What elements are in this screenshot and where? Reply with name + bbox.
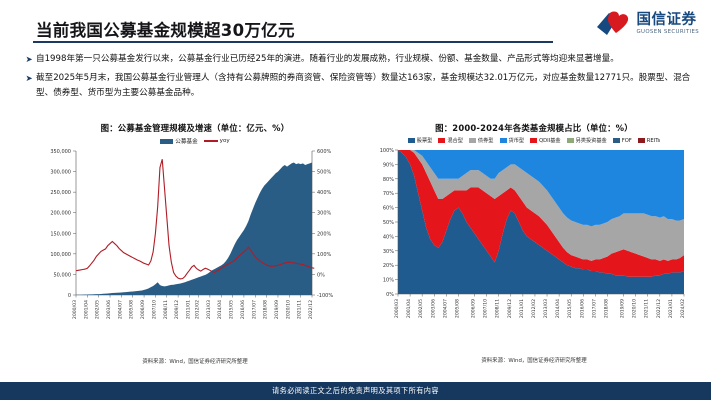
svg-text:350,000: 350,000 xyxy=(50,149,71,155)
chart-plot-area: 050,000100,000150,000200,000250,000300,0… xyxy=(30,145,360,351)
svg-text:2001/04: 2001/04 xyxy=(83,300,89,319)
chart-source-note: 资料来源：Wind，国信证券经济研究所整理 xyxy=(374,356,694,364)
svg-text:500%: 500% xyxy=(317,170,332,176)
svg-text:2008/11: 2008/11 xyxy=(495,299,501,318)
svg-text:2013/03: 2013/03 xyxy=(206,300,212,319)
chart-title: 图：2000-2024年各类基金规模占比（单位：%） xyxy=(374,122,694,134)
svg-text:2015/05: 2015/05 xyxy=(229,300,235,319)
legend-label: 货币型 xyxy=(509,137,525,144)
slide: 当前我国公募基金规模超30万亿元 国信证券 GUOSEN SECURITIES … xyxy=(0,0,711,400)
svg-text:0%: 0% xyxy=(317,272,325,278)
svg-text:2021/11: 2021/11 xyxy=(297,300,303,319)
svg-text:2014/04: 2014/04 xyxy=(555,299,561,318)
svg-text:2020/10: 2020/10 xyxy=(285,300,291,319)
svg-text:2008/11: 2008/11 xyxy=(163,300,169,319)
svg-text:2003/06: 2003/06 xyxy=(430,299,436,318)
page-title: 当前我国公募基金规模超30万亿元 xyxy=(36,17,295,41)
svg-text:2013/03: 2013/03 xyxy=(543,299,549,318)
svg-text:50,000: 50,000 xyxy=(54,272,72,278)
legend-swatch-icon xyxy=(613,138,620,143)
legend-item: yoy xyxy=(204,138,230,144)
svg-text:2019/09: 2019/09 xyxy=(620,299,626,318)
legend-item: 股票型 xyxy=(408,137,433,144)
legend-swatch-icon xyxy=(638,138,645,143)
svg-text:-100%: -100% xyxy=(317,293,333,299)
svg-text:100%: 100% xyxy=(380,148,395,154)
svg-text:2005/08: 2005/08 xyxy=(129,300,135,319)
svg-text:2004/07: 2004/07 xyxy=(442,299,448,318)
svg-text:90%: 90% xyxy=(383,162,394,168)
svg-text:2015/05: 2015/05 xyxy=(567,299,573,318)
svg-text:2011/01: 2011/01 xyxy=(519,299,525,318)
svg-text:2020/10: 2020/10 xyxy=(632,299,638,318)
legend-swatch-icon xyxy=(408,138,415,143)
svg-text:300%: 300% xyxy=(317,211,332,217)
footer-disclaimer: 请务必阅读正文之后的免责声明及其项下所有内容 xyxy=(0,382,711,400)
svg-text:2012/02: 2012/02 xyxy=(195,300,201,319)
legend-swatch-icon xyxy=(438,138,445,143)
svg-text:80%: 80% xyxy=(383,177,394,183)
legend-label: QDII基金 xyxy=(539,137,561,144)
legend-label: 另类投资基金 xyxy=(576,137,607,144)
bullet-arrow-icon: ➤ xyxy=(22,71,36,86)
chart-source-note: 资料来源：Wind，国信证券经济研究所整理 xyxy=(30,357,360,365)
legend-item: 另类投资基金 xyxy=(567,137,607,144)
svg-text:100,000: 100,000 xyxy=(50,252,71,258)
svg-text:2009/12: 2009/12 xyxy=(507,299,513,318)
svg-text:2004/07: 2004/07 xyxy=(117,300,123,319)
legend-swatch-icon xyxy=(469,138,476,143)
legend-item: 混合型 xyxy=(438,137,463,144)
svg-text:2016/06: 2016/06 xyxy=(240,300,246,319)
legend-line-icon xyxy=(204,140,218,142)
svg-text:2003/06: 2003/06 xyxy=(106,300,112,319)
svg-text:2018/08: 2018/08 xyxy=(604,299,610,318)
bullet-text: 自1998年第一只公募基金发行以来，公募基金行业已历经25年的演进。随着行业的发… xyxy=(36,52,619,68)
svg-text:2021/11: 2021/11 xyxy=(644,299,650,318)
legend-label: yoy xyxy=(220,138,230,144)
svg-text:2017/07: 2017/07 xyxy=(591,299,597,318)
svg-text:2006/09: 2006/09 xyxy=(140,300,146,319)
legend-item: FOF xyxy=(613,138,632,144)
svg-text:40%: 40% xyxy=(383,234,394,240)
svg-text:2000/03: 2000/03 xyxy=(72,300,78,319)
svg-text:600%: 600% xyxy=(317,149,332,155)
legend-label: FOF xyxy=(622,138,632,144)
brand-text: 国信证券 GUOSEN SECURITIES xyxy=(637,13,699,36)
legend-swatch-icon xyxy=(500,138,507,143)
legend-label: 股票型 xyxy=(417,137,433,144)
svg-text:20%: 20% xyxy=(383,263,394,269)
bullet-text: 截至2025年5月末，我国公募基金行业管理人（含持有公募牌照的券商资管、保险资管… xyxy=(36,71,694,102)
legend-label: 公募基金 xyxy=(175,137,197,145)
svg-text:50%: 50% xyxy=(383,220,394,226)
guosen-logo-icon xyxy=(595,11,631,37)
legend-swatch-icon xyxy=(567,138,574,143)
svg-text:2002/05: 2002/05 xyxy=(418,299,424,318)
legend-item: 公募基金 xyxy=(160,137,197,145)
svg-text:2005/08: 2005/08 xyxy=(454,299,460,318)
legend-label: 混合型 xyxy=(447,137,463,144)
legend-label: 债券型 xyxy=(478,137,494,144)
svg-text:2007/10: 2007/10 xyxy=(483,299,489,318)
svg-text:200,000: 200,000 xyxy=(50,211,71,217)
list-item: ➤ 自1998年第一只公募基金发行以来，公募基金行业已历经25年的演进。随着行业… xyxy=(22,52,694,68)
svg-text:2022/12: 2022/12 xyxy=(308,300,314,319)
bullet-list: ➤ 自1998年第一只公募基金发行以来，公募基金行业已历经25年的演进。随着行业… xyxy=(22,52,694,105)
svg-text:2018/08: 2018/08 xyxy=(263,300,269,319)
svg-text:2023/01: 2023/01 xyxy=(668,299,674,318)
svg-text:2017/07: 2017/07 xyxy=(251,300,257,319)
svg-text:10%: 10% xyxy=(383,278,394,284)
chart-plot-area: 0%10%20%30%40%50%60%70%80%90%100%2000/03… xyxy=(374,144,694,350)
svg-text:2001/04: 2001/04 xyxy=(406,299,412,318)
svg-text:60%: 60% xyxy=(383,206,394,212)
brand-logo: 国信证券 GUOSEN SECURITIES xyxy=(595,11,699,37)
legend-swatch-icon xyxy=(530,138,537,143)
chart-legend: 公募基金 yoy xyxy=(30,137,360,145)
svg-text:0%: 0% xyxy=(386,292,394,298)
svg-text:70%: 70% xyxy=(383,191,394,197)
svg-text:300,000: 300,000 xyxy=(50,170,71,176)
svg-text:2022/12: 2022/12 xyxy=(656,299,662,318)
svg-text:100%: 100% xyxy=(317,252,332,258)
svg-text:30%: 30% xyxy=(383,249,394,255)
svg-text:2007/10: 2007/10 xyxy=(151,300,157,319)
legend-item: REITs xyxy=(638,138,660,144)
svg-text:2014/04: 2014/04 xyxy=(217,300,223,319)
list-item: ➤ 截至2025年5月末，我国公募基金行业管理人（含持有公募牌照的券商资管、保险… xyxy=(22,71,694,102)
svg-text:400%: 400% xyxy=(317,190,332,196)
svg-text:2012/02: 2012/02 xyxy=(531,299,537,318)
svg-text:2016/06: 2016/06 xyxy=(579,299,585,318)
svg-text:2011/01: 2011/01 xyxy=(186,300,192,319)
svg-text:2002/05: 2002/05 xyxy=(95,300,101,319)
svg-text:200%: 200% xyxy=(317,231,332,237)
chart-panel-fund-share: 图：2000-2024年各类基金规模占比（单位：%） 股票型混合型债券型货币型Q… xyxy=(374,122,694,374)
slide-footer: 请务必阅读正文之后的免责声明及其项下所有内容 xyxy=(0,382,711,400)
svg-text:250,000: 250,000 xyxy=(50,190,71,196)
brand-name-en: GUOSEN SECURITIES xyxy=(637,30,699,35)
legend-item: QDII基金 xyxy=(530,137,561,144)
svg-text:2009/12: 2009/12 xyxy=(174,300,180,319)
svg-text:2006/09: 2006/09 xyxy=(471,299,477,318)
svg-text:150,000: 150,000 xyxy=(50,231,71,237)
brand-name-cn: 国信证券 xyxy=(637,13,699,28)
chart-legend: 股票型混合型债券型货币型QDII基金另类投资基金FOFREITs xyxy=(374,137,694,144)
legend-item: 债券型 xyxy=(469,137,494,144)
chart-title: 图：公募基金管理规模及增速（单位：亿元、%） xyxy=(30,122,360,134)
bullet-arrow-icon: ➤ xyxy=(22,52,36,67)
legend-item: 货币型 xyxy=(500,137,525,144)
svg-text:2000/03: 2000/03 xyxy=(394,299,400,318)
legend-swatch-icon xyxy=(160,139,173,144)
chart-panel-fund-scale: 图：公募基金管理规模及增速（单位：亿元、%） 公募基金 yoy 050,0001… xyxy=(30,122,360,374)
svg-text:2019/09: 2019/09 xyxy=(274,300,280,319)
slide-header: 当前我国公募基金规模超30万亿元 国信证券 GUOSEN SECURITIES xyxy=(0,0,711,46)
svg-text:2024/02: 2024/02 xyxy=(680,299,686,318)
title-underline xyxy=(33,41,553,43)
legend-label: REITs xyxy=(647,138,660,144)
svg-text:0: 0 xyxy=(68,293,71,299)
